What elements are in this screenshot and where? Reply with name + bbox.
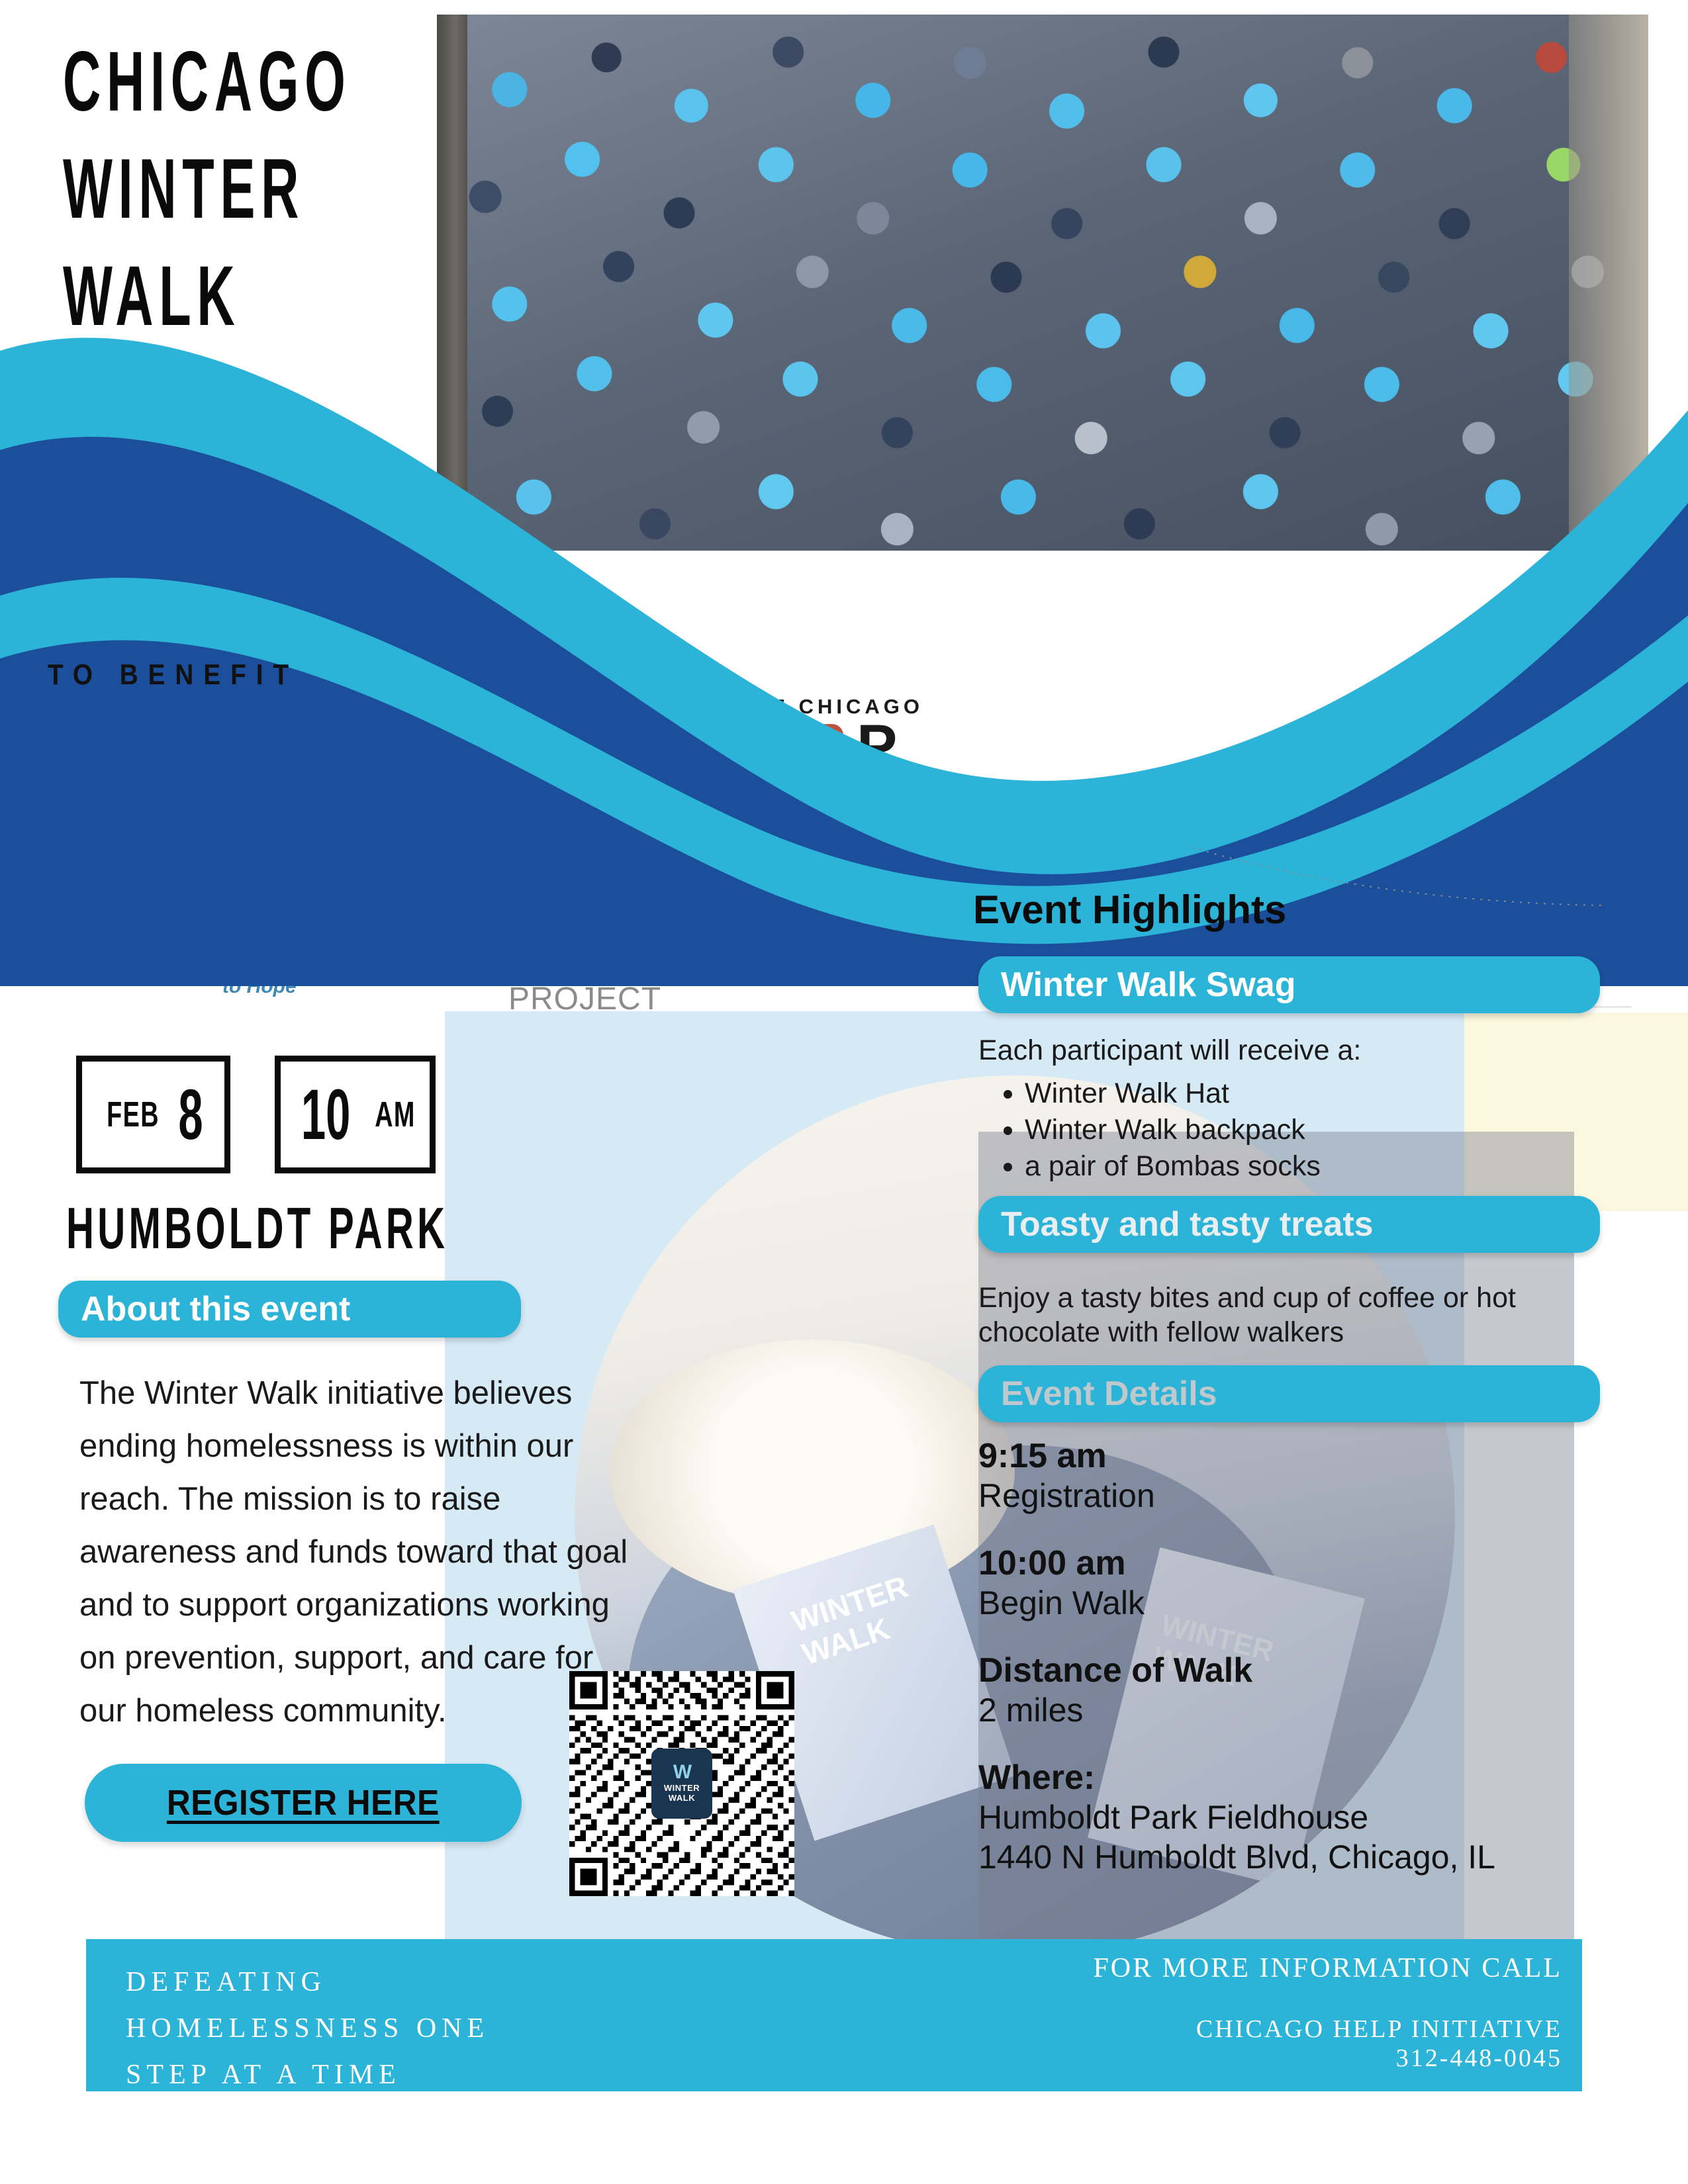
qr-code[interactable]: W WINTER WALK xyxy=(569,1671,794,1896)
list-item: Winter Walk Hat xyxy=(1025,1075,1321,1112)
qr-logo-line-2: WALK xyxy=(669,1793,695,1803)
logo-chicago-help-initiative: THE CHICAGO HELP INITIATIVE FEEDING HOPE xyxy=(722,695,927,807)
about-this-event-label: About this event xyxy=(81,1289,350,1329)
detail-row: 10:00 am Begin Walk xyxy=(978,1543,1495,1623)
time-period-label: AM xyxy=(375,1094,416,1135)
footer-tagline-line-1: DEFEATING xyxy=(126,1959,722,2005)
event-highlights-title: Event Highlights xyxy=(973,887,1286,933)
qr-center-logo: W WINTER WALK xyxy=(651,1749,712,1819)
coalition-roof-cut xyxy=(589,733,700,757)
date-day-label: 8 xyxy=(179,1079,203,1150)
boulevard-leaf-icon xyxy=(50,749,68,778)
crowd-photo-image xyxy=(437,15,1648,551)
detail-label: Registration xyxy=(978,1476,1495,1516)
isp-spark-icon xyxy=(520,897,531,915)
detail-time: 10:00 am xyxy=(978,1543,1495,1583)
coalition-line-3: Homelessness xyxy=(455,774,664,809)
franciscan-right-pillar-icon xyxy=(180,912,203,957)
crowd-photo xyxy=(437,15,1648,551)
detail-row: Distance of Walk 2 miles xyxy=(978,1651,1495,1730)
logo-franciscan-outreach: Franciscan OUTREACH A Path from Help to … xyxy=(119,860,397,986)
coalition-line-1: Chicago xyxy=(455,703,573,737)
franciscan-roof-icon xyxy=(138,866,196,892)
treats-body-text: Enjoy a tasty bites and cup of coffee or… xyxy=(978,1281,1574,1349)
qr-logo-mark: W xyxy=(673,1764,690,1780)
footer-tagline-line-3: STEP AT A TIME xyxy=(126,2052,722,2098)
logo-chicago-coalition: Chicago Coalition to end Homelessness xyxy=(357,702,675,821)
photo-right-wall xyxy=(1569,15,1648,551)
isp-flame-icon xyxy=(514,858,551,925)
detail-distance-value: 2 miles xyxy=(978,1690,1495,1730)
poster-canvas: CHICAGO WINTER WALK TO BENEFIT The Boule… xyxy=(0,0,1688,2184)
footer-contact-org: CHICAGO HELP INITIATIVE xyxy=(1093,2015,1562,2044)
location-headline: HUMBOLDT PARK xyxy=(66,1195,448,1262)
detail-time: 9:15 am xyxy=(978,1436,1495,1476)
about-body-text: The Winter Walk initiative believes endi… xyxy=(79,1367,629,1737)
register-here-label: REGISTER HERE xyxy=(167,1782,440,1823)
title-line-2: WINTER xyxy=(63,147,352,232)
coalition-inner-ring-icon xyxy=(379,739,440,799)
franciscan-line-1: Franciscan xyxy=(222,866,410,910)
detail-row: Where: Humboldt Park Fieldhouse 1440 N H… xyxy=(978,1758,1495,1877)
logo-the-boulevard: The Boulevard xyxy=(26,720,344,786)
date-box: FEB 8 xyxy=(76,1056,230,1173)
event-details-label: Event Details xyxy=(1001,1374,1217,1414)
franciscan-tau-arm-icon xyxy=(139,893,192,907)
toasty-tasty-treats-label: Toasty and tasty treats xyxy=(1001,1205,1374,1244)
poster-title: CHICAGO WINTER WALK xyxy=(63,40,528,361)
about-this-event-pill: About this event xyxy=(58,1281,521,1338)
event-details-pill: Event Details xyxy=(978,1365,1600,1422)
winter-walk-swag-label: Winter Walk Swag xyxy=(1001,965,1295,1005)
franciscan-tagline: A Path from Help to Hope xyxy=(222,953,397,998)
footer-contact-phone[interactable]: 312-448-0045 xyxy=(1093,2044,1562,2073)
list-item: a pair of Bombas socks xyxy=(1025,1148,1321,1185)
list-item: Winter Walk backpack xyxy=(1025,1112,1321,1148)
title-line-3: WALK xyxy=(63,254,352,339)
register-here-button[interactable]: REGISTER HERE xyxy=(85,1764,522,1842)
help-tagline: FEEDING HOPE xyxy=(755,809,912,828)
logo-the-boulevard-label: The Boulevard xyxy=(105,729,344,818)
toasty-tasty-treats-pill: Toasty and tasty treats xyxy=(978,1196,1600,1253)
to-benefit-heading: TO BENEFIT xyxy=(48,659,299,692)
franciscan-line-2: OUTREACH xyxy=(222,904,458,951)
logo-ignatian-spirituality-project: IGNATIAN SPIRITUALITY PROJECT LIGHTING T… xyxy=(503,860,728,1006)
event-details-list: 9:15 am Registration 10:00 am Begin Walk… xyxy=(978,1436,1495,1877)
swag-items-list: Winter Walk Hat Winter Walk backpack a p… xyxy=(978,1075,1321,1185)
footer-tagline: DEFEATING HOMELESSNESS ONE STEP AT A TIM… xyxy=(126,1959,722,2098)
help-bottom-label: INITIATIVE xyxy=(741,781,871,801)
coalition-bar-icon xyxy=(396,739,405,785)
date-month-label: FEB xyxy=(107,1094,160,1135)
winter-walk-swag-pill: Winter Walk Swag xyxy=(978,956,1600,1013)
footer-contact: FOR MORE INFORMATION CALL CHICAGO HELP I… xyxy=(1093,1952,1562,2073)
qr-logo-line-1: WINTER xyxy=(664,1783,700,1793)
detail-address: 1440 N Humboldt Blvd, Chicago, IL xyxy=(978,1837,1495,1877)
detail-row: 9:15 am Registration xyxy=(978,1436,1495,1516)
time-box: 10 AM xyxy=(275,1056,436,1173)
detail-label: Begin Walk xyxy=(978,1583,1495,1623)
helping-hand-icon xyxy=(782,724,843,776)
boulevard-circle-icon xyxy=(33,724,95,786)
detail-distance-label: Distance of Walk xyxy=(978,1651,1495,1690)
time-value-label: 10 xyxy=(301,1079,350,1150)
detail-where-label: Where: xyxy=(978,1758,1495,1797)
footer-contact-heading: FOR MORE INFORMATION CALL xyxy=(1093,1952,1562,1984)
franciscan-left-pillar-icon xyxy=(128,912,151,957)
swag-intro-text: Each participant will receive a: xyxy=(978,1034,1361,1067)
detail-venue: Humboldt Park Fieldhouse xyxy=(978,1797,1495,1837)
title-line-1: CHICAGO xyxy=(63,40,352,124)
footer-tagline-line-2: HOMELESSNESS ONE xyxy=(126,2005,722,2052)
